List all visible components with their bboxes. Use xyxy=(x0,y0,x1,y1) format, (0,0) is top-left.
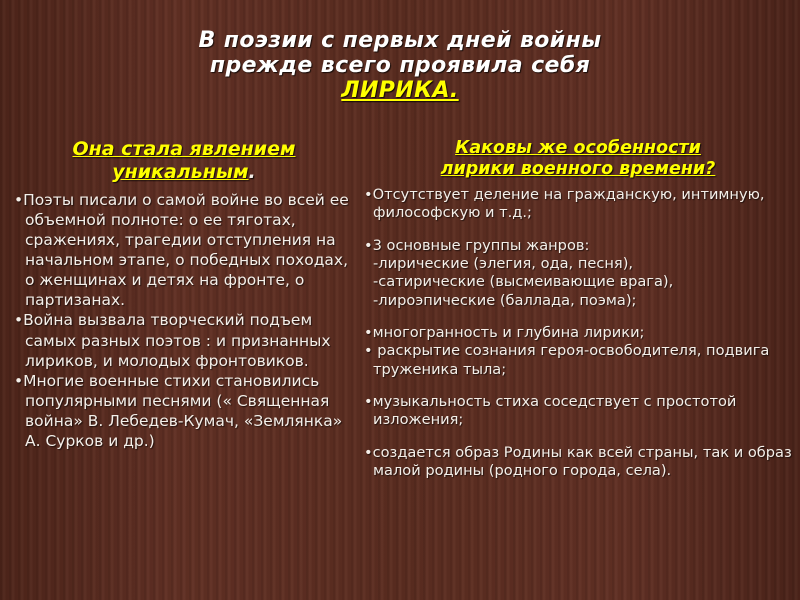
right-heading-line2: лирики военного времени? xyxy=(441,159,716,179)
bullet-text: 3 основные группы жанров: -лирические (э… xyxy=(373,237,674,309)
bullet-text: Война вызвала творческий подъем самых ра… xyxy=(23,311,330,369)
list-item: •Многие военные стихи становились популя… xyxy=(14,371,354,452)
bullet-marker: • xyxy=(364,237,373,254)
bullet-marker: • xyxy=(14,311,23,329)
right-column-bullet-list: •Отсутствует деление на гражданскую, инт… xyxy=(364,186,792,480)
right-column: Каковы же особенности лирики военного вр… xyxy=(364,138,792,480)
left-heading-part1: Она стала явлением xyxy=(72,138,295,160)
bullet-text: раскрытие сознания героя-освободителя, п… xyxy=(373,342,770,377)
list-item: •Война вызвала творческий подъем самых р… xyxy=(14,310,354,370)
bullet-marker: • xyxy=(364,342,373,359)
left-column-bullet-list: •Поэты писали о самой войне во всей ее о… xyxy=(14,190,354,452)
title-line-2: прежде всего проявила себя xyxy=(0,53,800,78)
bullet-marker: • xyxy=(14,191,23,209)
bullet-text: многогранность и глубина лирики; xyxy=(373,324,645,341)
bullet-text: Отсутствует деление на гражданскую, инти… xyxy=(373,186,765,221)
title-line-3-accent: ЛИРИКА. xyxy=(0,78,800,103)
left-column: Она стала явлением уникальным. •Поэты пи… xyxy=(14,138,354,451)
bullet-text: создается образ Родины как всей страны, … xyxy=(373,444,792,479)
list-item: • раскрытие сознания героя-освободителя,… xyxy=(364,342,792,379)
bullet-text: музыкальность стиха соседствует с просто… xyxy=(373,393,737,428)
title-line-1: В поэзии с первых дней войны xyxy=(0,28,800,53)
list-item: •3 основные группы жанров: -лирические (… xyxy=(364,237,792,311)
list-item: •Поэты писали о самой войне во всей ее о… xyxy=(14,190,354,311)
bullet-marker: • xyxy=(364,324,373,341)
left-column-heading: Она стала явлением уникальным. xyxy=(14,138,354,184)
left-heading-tail: . xyxy=(249,161,256,183)
right-column-heading: Каковы же особенности лирики военного вр… xyxy=(364,138,792,180)
list-item: •создается образ Родины как всей страны,… xyxy=(364,444,792,481)
left-heading-part2: уникальным xyxy=(112,161,248,183)
list-item: •Отсутствует деление на гражданскую, инт… xyxy=(364,186,792,223)
bullet-marker: • xyxy=(364,186,373,203)
list-item: •музыкальность стиха соседствует с прост… xyxy=(364,393,792,430)
slide-canvas: В поэзии с первых дней войны прежде всег… xyxy=(0,0,800,600)
bullet-marker: • xyxy=(364,444,373,461)
bullet-marker: • xyxy=(364,393,373,410)
bullet-text: Поэты писали о самой войне во всей ее об… xyxy=(23,191,349,310)
bullet-text: Многие военные стихи становились популяр… xyxy=(23,372,342,450)
right-heading-line1: Каковы же особенности xyxy=(455,138,701,158)
list-item: •многогранность и глубина лирики; xyxy=(364,324,792,342)
slide-title: В поэзии с первых дней войны прежде всег… xyxy=(0,28,800,103)
bullet-marker: • xyxy=(14,372,23,390)
